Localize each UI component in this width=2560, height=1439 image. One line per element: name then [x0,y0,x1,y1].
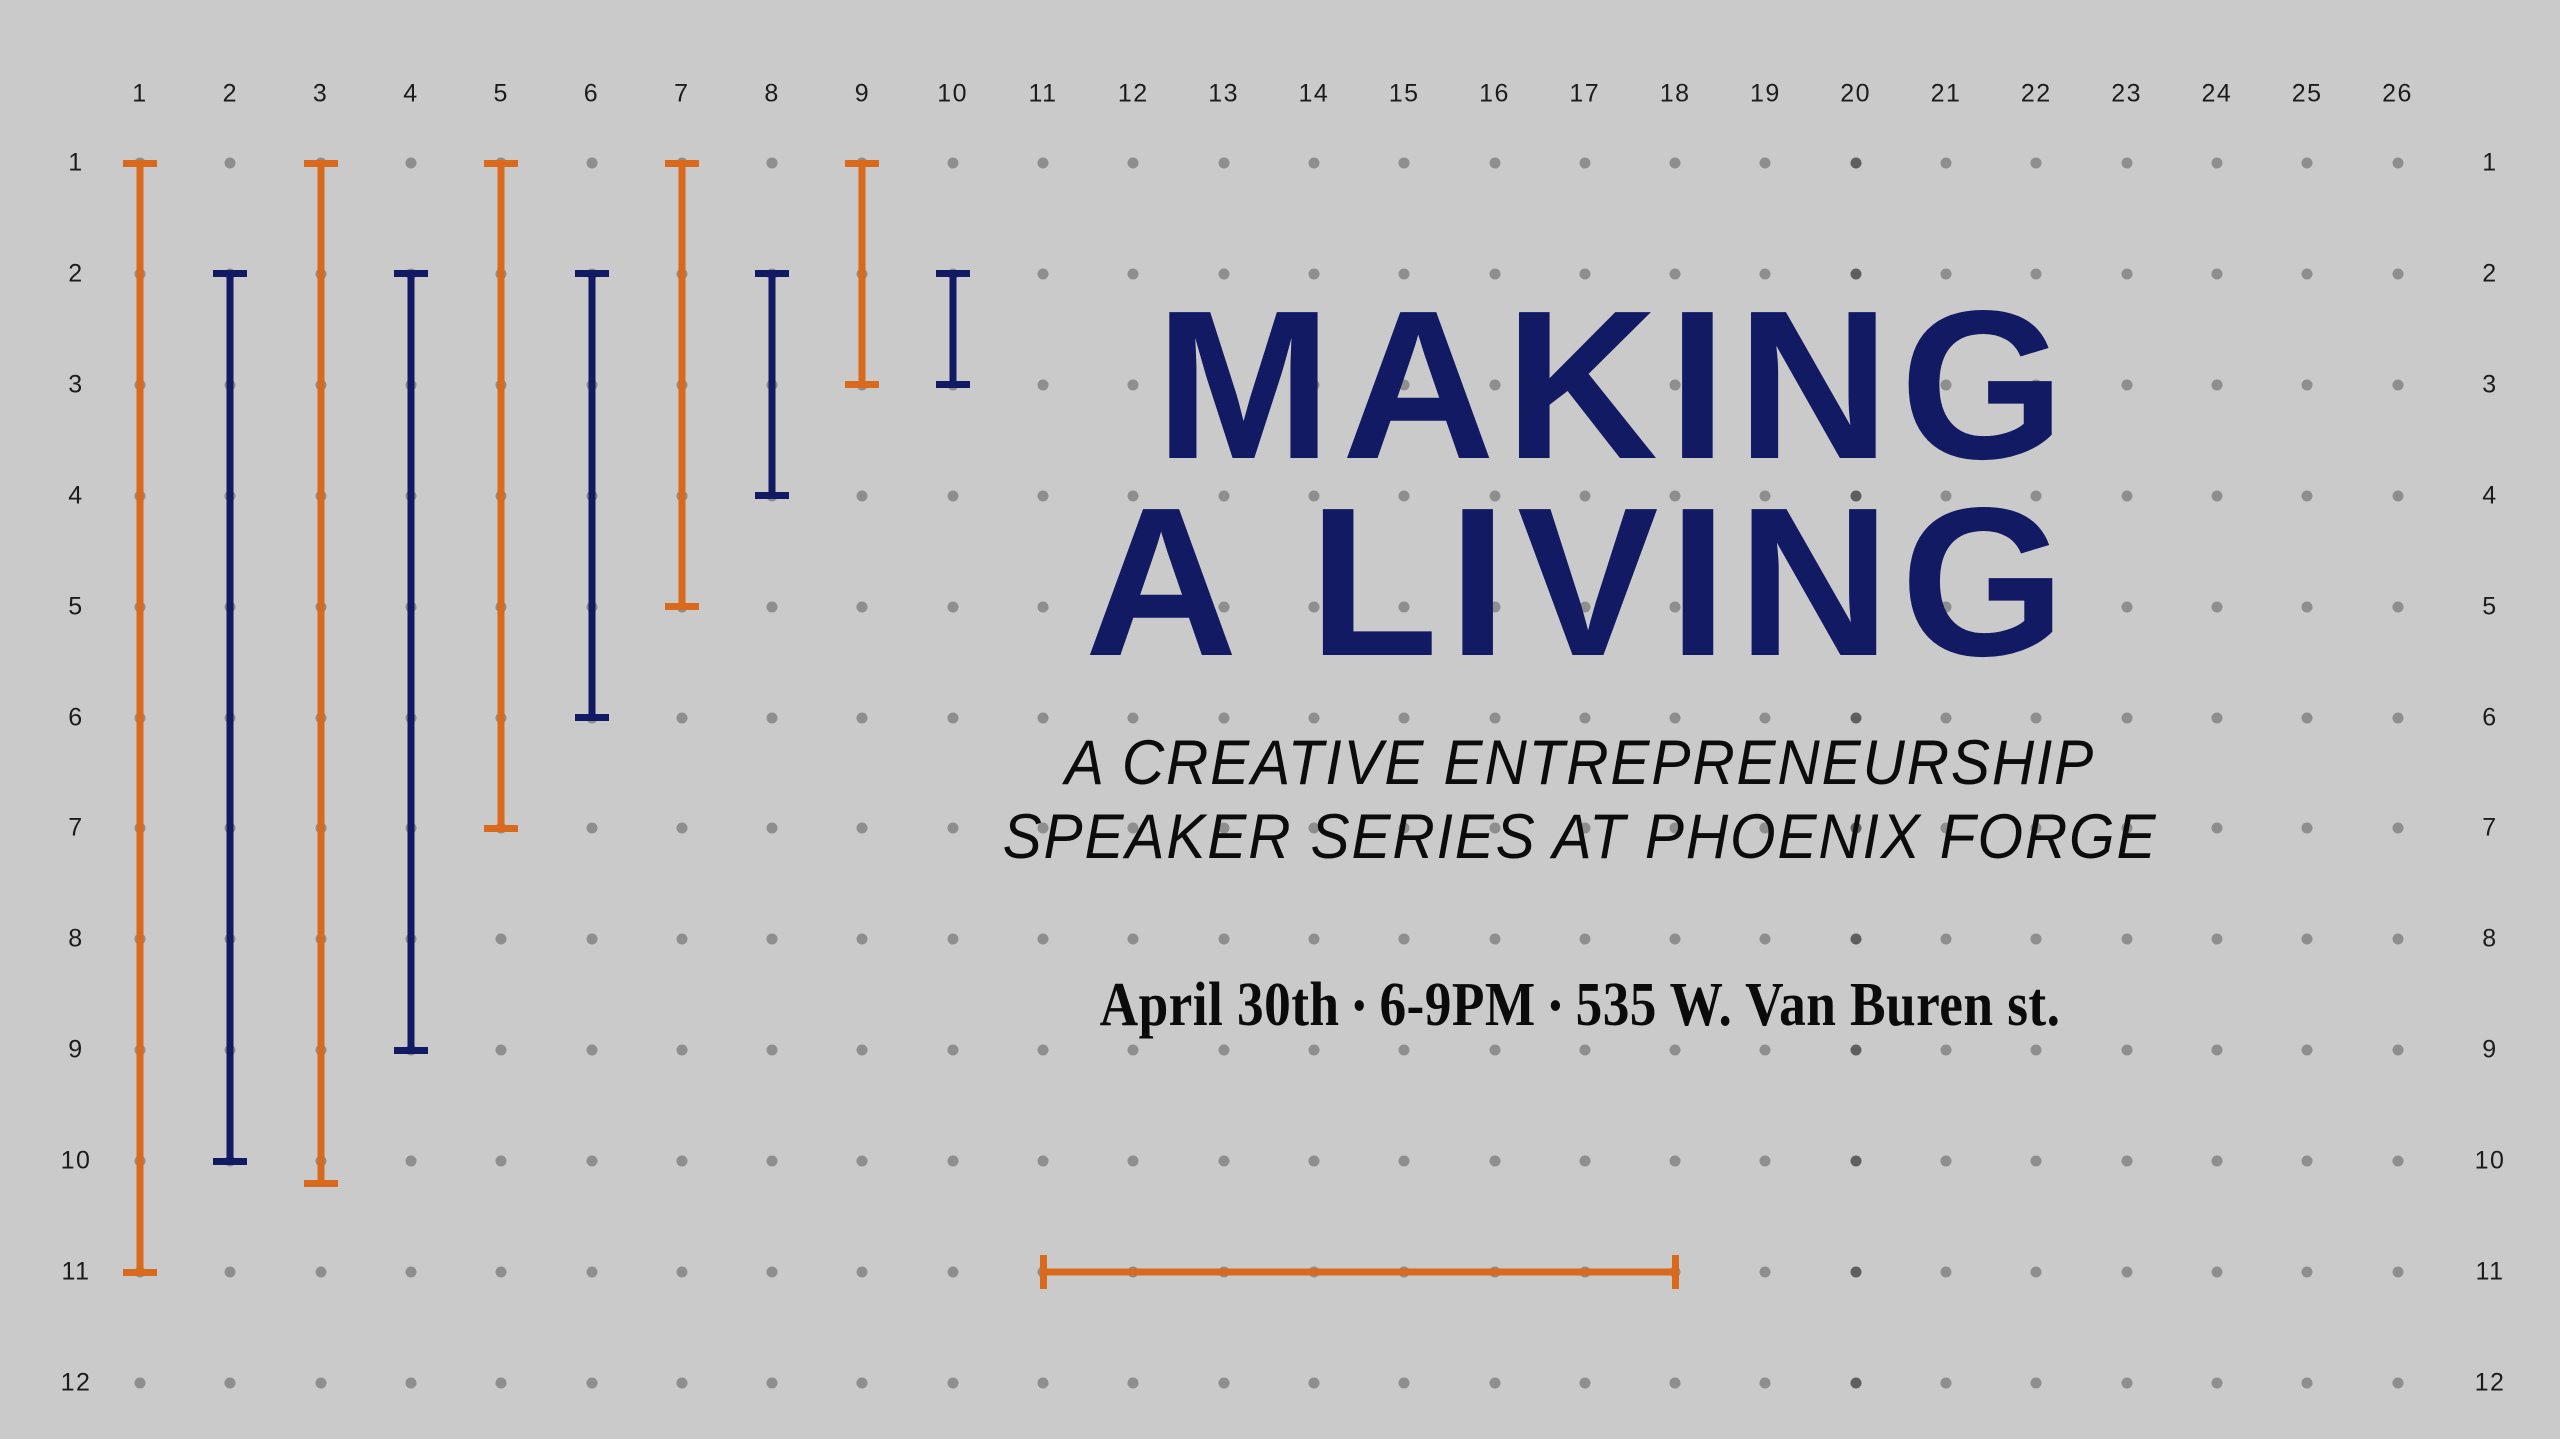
range-bar-cap-top [304,160,338,167]
grid-dot [2392,1377,2403,1388]
grid-dot [1038,268,1049,279]
grid-dot [1399,1377,1410,1388]
x-tick-label: 1 [132,80,147,109]
vertical-range-bar [123,160,157,1276]
y-tick-label-left: 5 [68,592,83,621]
grid-dot [676,1045,687,1056]
grid-dot [857,1045,868,1056]
grid-dot [2121,268,2132,279]
grid-dot [767,934,778,945]
range-bar-cap-top [665,160,699,167]
vertical-range-bar [484,160,518,832]
grid-dot [1038,1377,1049,1388]
grid-dot [2302,1377,2313,1388]
grid-dot [2211,1267,2222,1278]
y-tick-label-left: 1 [68,149,83,178]
grid-dot [1850,1156,1861,1167]
range-bar-stem [769,270,776,499]
vertical-range-bar [394,270,428,1053]
grid-dot [1670,158,1681,169]
grid-dot [2392,268,2403,279]
grid-dot [496,1377,507,1388]
grid-dot [1128,1045,1139,1056]
grid-dot [857,1156,868,1167]
vertical-range-bar [304,160,338,1187]
range-bar-cap-top [936,270,970,277]
grid-dot [1489,158,1500,169]
grid-dot [1308,1045,1319,1056]
x-tick-label: 20 [1840,80,1871,109]
vertical-range-bar [665,160,699,611]
grid-dot [2211,268,2222,279]
headline-line-1: MAKING [890,290,2340,481]
x-tick-label: 15 [1389,80,1420,109]
grid-dot [1489,1156,1500,1167]
x-tick-label: 23 [2111,80,2142,109]
x-tick-label: 24 [2201,80,2232,109]
range-bar-cap-bottom [123,1269,157,1276]
range-bar-cap-bottom [665,603,699,610]
grid-dot [586,1267,597,1278]
grid-dot [1670,1045,1681,1056]
grid-dot [496,1156,507,1167]
grid-dot [2392,712,2403,723]
grid-dot [2211,1156,2222,1167]
x-tick-label: 19 [1750,80,1781,109]
grid-dot [947,1045,958,1056]
grid-dot [767,712,778,723]
y-tick-label-right: 5 [2482,592,2497,621]
grid-dot [2211,158,2222,169]
x-tick-label: 5 [493,80,508,109]
grid-dot [1399,158,1410,169]
event-date: April 30th [1100,971,1340,1039]
vertical-range-bar [755,270,789,499]
grid-dot [1218,158,1229,169]
vertical-range-bar [575,270,609,721]
event-address: 535 W. Van Buren st. [1576,971,2061,1039]
grid-dot [676,1156,687,1167]
grid-dot [405,1156,416,1167]
grid-dot [586,1377,597,1388]
x-tick-label: 2 [223,80,238,109]
x-tick-label: 11 [1029,80,1058,109]
grid-dot [1218,1045,1229,1056]
grid-dot [1760,158,1771,169]
grid-dot [135,1377,146,1388]
x-tick-label: 8 [764,80,779,109]
poster-canvas: 1234567891011121314151617181920212223242… [0,0,2560,1439]
grid-dot [1399,1156,1410,1167]
grid-dot [676,823,687,834]
grid-dot [1850,1045,1861,1056]
grid-dot [1579,1156,1590,1167]
event-time: 6-9PM [1379,971,1535,1039]
x-tick-label: 18 [1660,80,1691,109]
x-tick-label: 25 [2292,80,2323,109]
x-tick-label: 10 [937,80,968,109]
event-details: April 30th•6-9PM•535 W. Van Buren st. [926,970,2233,1041]
grid-dot [1579,1045,1590,1056]
y-tick-label-left: 11 [62,1258,91,1287]
subheadline-line-2: SPEAKER SERIES AT PHOENIX FORGE [873,800,2287,874]
y-tick-label-left: 9 [68,1036,83,1065]
x-tick-label: 21 [1931,80,1962,109]
grid-dot [1670,1377,1681,1388]
range-bar-cap-top [213,270,247,277]
grid-dot [2392,823,2403,834]
grid-dot [2031,1267,2042,1278]
grid-dot [2302,1045,2313,1056]
poster-text-block: MAKING A LIVING A CREATIVE ENTREPRENEURS… [820,290,2340,1041]
range-bar-cap-top [755,270,789,277]
x-tick-label: 9 [855,80,870,109]
x-tick-label: 6 [584,80,599,109]
grid-dot [1489,1377,1500,1388]
range-bar-cap-end [1672,1255,1679,1289]
grid-dot [1218,1156,1229,1167]
grid-dot [1760,1267,1771,1278]
grid-dot [1670,1156,1681,1167]
grid-dot [315,1377,326,1388]
grid-dot [2121,1267,2132,1278]
range-bar-stem [227,270,234,1164]
y-tick-label-left: 3 [68,370,83,399]
y-tick-label-left: 12 [61,1368,92,1397]
grid-dot [2031,158,2042,169]
grid-dot [2121,158,2132,169]
grid-dot [586,1156,597,1167]
grid-dot [767,158,778,169]
grid-dot [1128,158,1139,169]
grid-dot [496,1045,507,1056]
grid-dot [1399,1045,1410,1056]
grid-dot [405,1377,416,1388]
range-bar-cap-start [1040,1255,1047,1289]
grid-dot [1941,1156,1952,1167]
grid-dot [1308,158,1319,169]
grid-dot [767,823,778,834]
grid-dot [225,1267,236,1278]
grid-dot [315,1267,326,1278]
y-tick-label-left: 7 [68,814,83,843]
grid-dot [947,1377,958,1388]
grid-dot [1579,158,1590,169]
grid-dot [1038,1045,1049,1056]
grid-dot [2392,1045,2403,1056]
vertical-range-bar [213,270,247,1164]
grid-dot [1760,1377,1771,1388]
subheadline-line-1: A CREATIVE ENTREPRENEURSHIP [873,726,2287,800]
grid-dot [1218,1377,1229,1388]
grid-dot [1850,1377,1861,1388]
event-separator-1: • [1339,983,1379,1028]
y-tick-label-left: 8 [68,925,83,954]
grid-dot [586,823,597,834]
grid-dot [676,712,687,723]
grid-dot [1128,1377,1139,1388]
grid-dot [767,1156,778,1167]
grid-dot [947,158,958,169]
grid-dot [2302,158,2313,169]
grid-dot [2392,601,2403,612]
grid-dot [1760,1156,1771,1167]
grid-dot [947,1267,958,1278]
y-tick-label-right: 8 [2482,925,2497,954]
x-tick-label: 16 [1479,80,1510,109]
range-bar-cap-top [484,160,518,167]
grid-dot [2392,379,2403,390]
range-bar-stem [678,160,685,611]
event-separator-2: • [1536,983,1576,1028]
y-tick-label-left: 10 [61,1147,92,1176]
x-tick-label: 4 [403,80,418,109]
range-bar-cap-bottom [394,1047,428,1054]
y-tick-label-right: 10 [2475,1147,2506,1176]
x-tick-label: 22 [2021,80,2052,109]
y-tick-label-right: 12 [2475,1368,2506,1397]
grid-dot [586,934,597,945]
grid-dot [767,1377,778,1388]
grid-dot [2392,158,2403,169]
grid-dot [857,1377,868,1388]
grid-dot [2031,1377,2042,1388]
grid-dot [1038,1156,1049,1167]
grid-dot [676,1267,687,1278]
range-bar-cap-bottom [484,825,518,832]
grid-dot [767,1045,778,1056]
grid-dot [1941,1267,1952,1278]
grid-dot [496,934,507,945]
grid-dot [1308,1156,1319,1167]
grid-dot [2392,490,2403,501]
y-tick-label-right: 1 [2482,149,2497,178]
x-tick-label: 12 [1118,80,1149,109]
grid-dot [2031,1156,2042,1167]
grid-dot [1941,1377,1952,1388]
grid-dot [857,1267,868,1278]
grid-dot [1489,1045,1500,1056]
range-bar-cap-bottom [213,1158,247,1165]
y-tick-label-left: 6 [68,703,83,732]
y-tick-label-right: 6 [2482,703,2497,732]
x-tick-label: 14 [1298,80,1329,109]
grid-dot [1760,1045,1771,1056]
horizontal-range-bar [1040,1255,1679,1289]
range-bar-cap-bottom [575,714,609,721]
grid-dot [2121,1045,2132,1056]
range-bar-stem [317,160,324,1187]
grid-dot [2392,1267,2403,1278]
x-tick-label: 13 [1208,80,1239,109]
grid-dot [496,1267,507,1278]
grid-dot [767,601,778,612]
x-tick-label: 3 [313,80,328,109]
x-tick-label: 17 [1569,80,1600,109]
range-bar-stem [1040,1269,1679,1276]
grid-dot [2302,1267,2313,1278]
grid-dot [2392,1156,2403,1167]
grid-dot [947,1156,958,1167]
grid-dot [1579,1377,1590,1388]
grid-dot [2121,1156,2132,1167]
range-bar-stem [588,270,595,721]
y-tick-label-right: 3 [2482,370,2497,399]
grid-dot [1128,268,1139,279]
grid-dot [1941,158,1952,169]
grid-dot [225,1377,236,1388]
y-tick-label-right: 11 [2476,1258,2505,1287]
grid-dot [1038,158,1049,169]
grid-dot [405,158,416,169]
grid-dot [2302,1156,2313,1167]
grid-dot [405,1267,416,1278]
grid-dot [767,1267,778,1278]
range-bar-cap-top [575,270,609,277]
grid-dot [2392,934,2403,945]
subheadline: A CREATIVE ENTREPRENEURSHIP SPEAKER SERI… [820,726,2340,875]
grid-dot [1308,1377,1319,1388]
grid-dot [676,934,687,945]
y-tick-label-left: 2 [68,259,83,288]
grid-dot [2302,268,2313,279]
headline-line-2: A LIVING [820,487,2340,678]
grid-dot [586,1045,597,1056]
range-bar-stem [137,160,144,1276]
range-bar-stem [407,270,414,1053]
grid-dot [1850,1267,1861,1278]
grid-dot [1850,158,1861,169]
grid-dot [586,158,597,169]
grid-dot [2211,1045,2222,1056]
grid-dot [225,158,236,169]
grid-dot [2211,1377,2222,1388]
grid-dot [2121,1377,2132,1388]
grid-dot [1128,1156,1139,1167]
grid-dot [2031,1045,2042,1056]
y-tick-label-right: 2 [2482,259,2497,288]
grid-dot [676,1377,687,1388]
y-tick-label-right: 9 [2482,1036,2497,1065]
range-bar-stem [498,160,505,832]
y-tick-label-right: 7 [2482,814,2497,843]
y-tick-label-left: 4 [68,481,83,510]
range-bar-cap-bottom [304,1180,338,1187]
y-tick-label-right: 4 [2482,481,2497,510]
range-bar-cap-top [845,160,879,167]
grid-dot [1941,1045,1952,1056]
range-bar-cap-top [123,160,157,167]
x-tick-label: 26 [2382,80,2413,109]
range-bar-cap-bottom [755,492,789,499]
x-tick-label: 7 [674,80,689,109]
range-bar-cap-top [394,270,428,277]
